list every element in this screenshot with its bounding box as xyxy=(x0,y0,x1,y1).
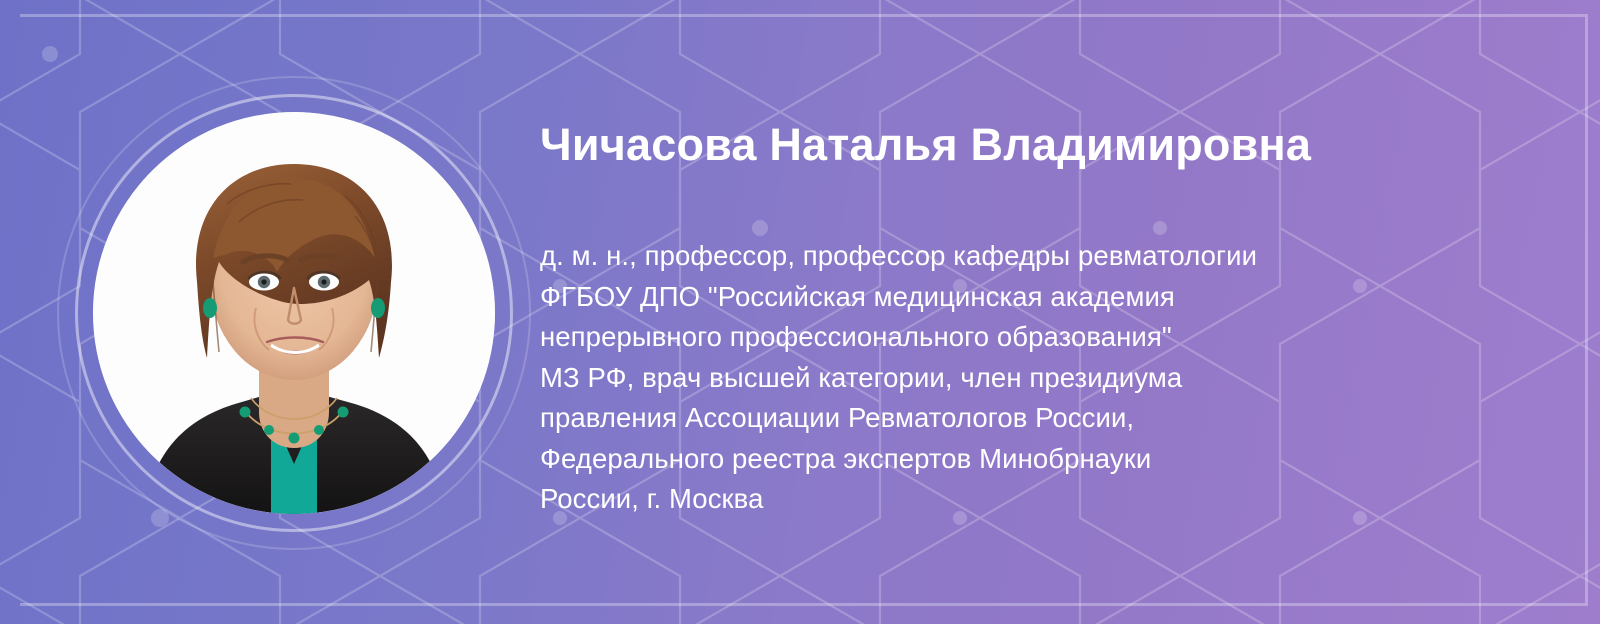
bio-line: правления Ассоциации Ревматологов России… xyxy=(540,398,1440,439)
bio-line: ФГБОУ ДПО "Российская медицинская академ… xyxy=(540,277,1440,318)
bio-line: Федерального реестра экспертов Минобрнау… xyxy=(540,439,1440,480)
speaker-intro-slide: Чичасова Наталья Владимировна д. м. н., … xyxy=(0,0,1600,624)
speaker-bio: д. м. н., профессор, профессор кафедры р… xyxy=(540,172,1440,520)
speaker-text-block: Чичасова Наталья Владимировна д. м. н., … xyxy=(540,118,1440,520)
page-title: Чичасова Наталья Владимировна xyxy=(540,118,1440,172)
bio-line: непрерывного профессионального образован… xyxy=(540,317,1440,358)
speaker-avatar xyxy=(93,112,495,514)
bio-line: д. м. н., профессор, профессор кафедры р… xyxy=(540,236,1440,277)
bio-line: России, г. Москва xyxy=(540,479,1440,520)
bio-line: МЗ РФ, врач высшей категории, член прези… xyxy=(540,358,1440,399)
avatar-photo xyxy=(93,112,495,514)
